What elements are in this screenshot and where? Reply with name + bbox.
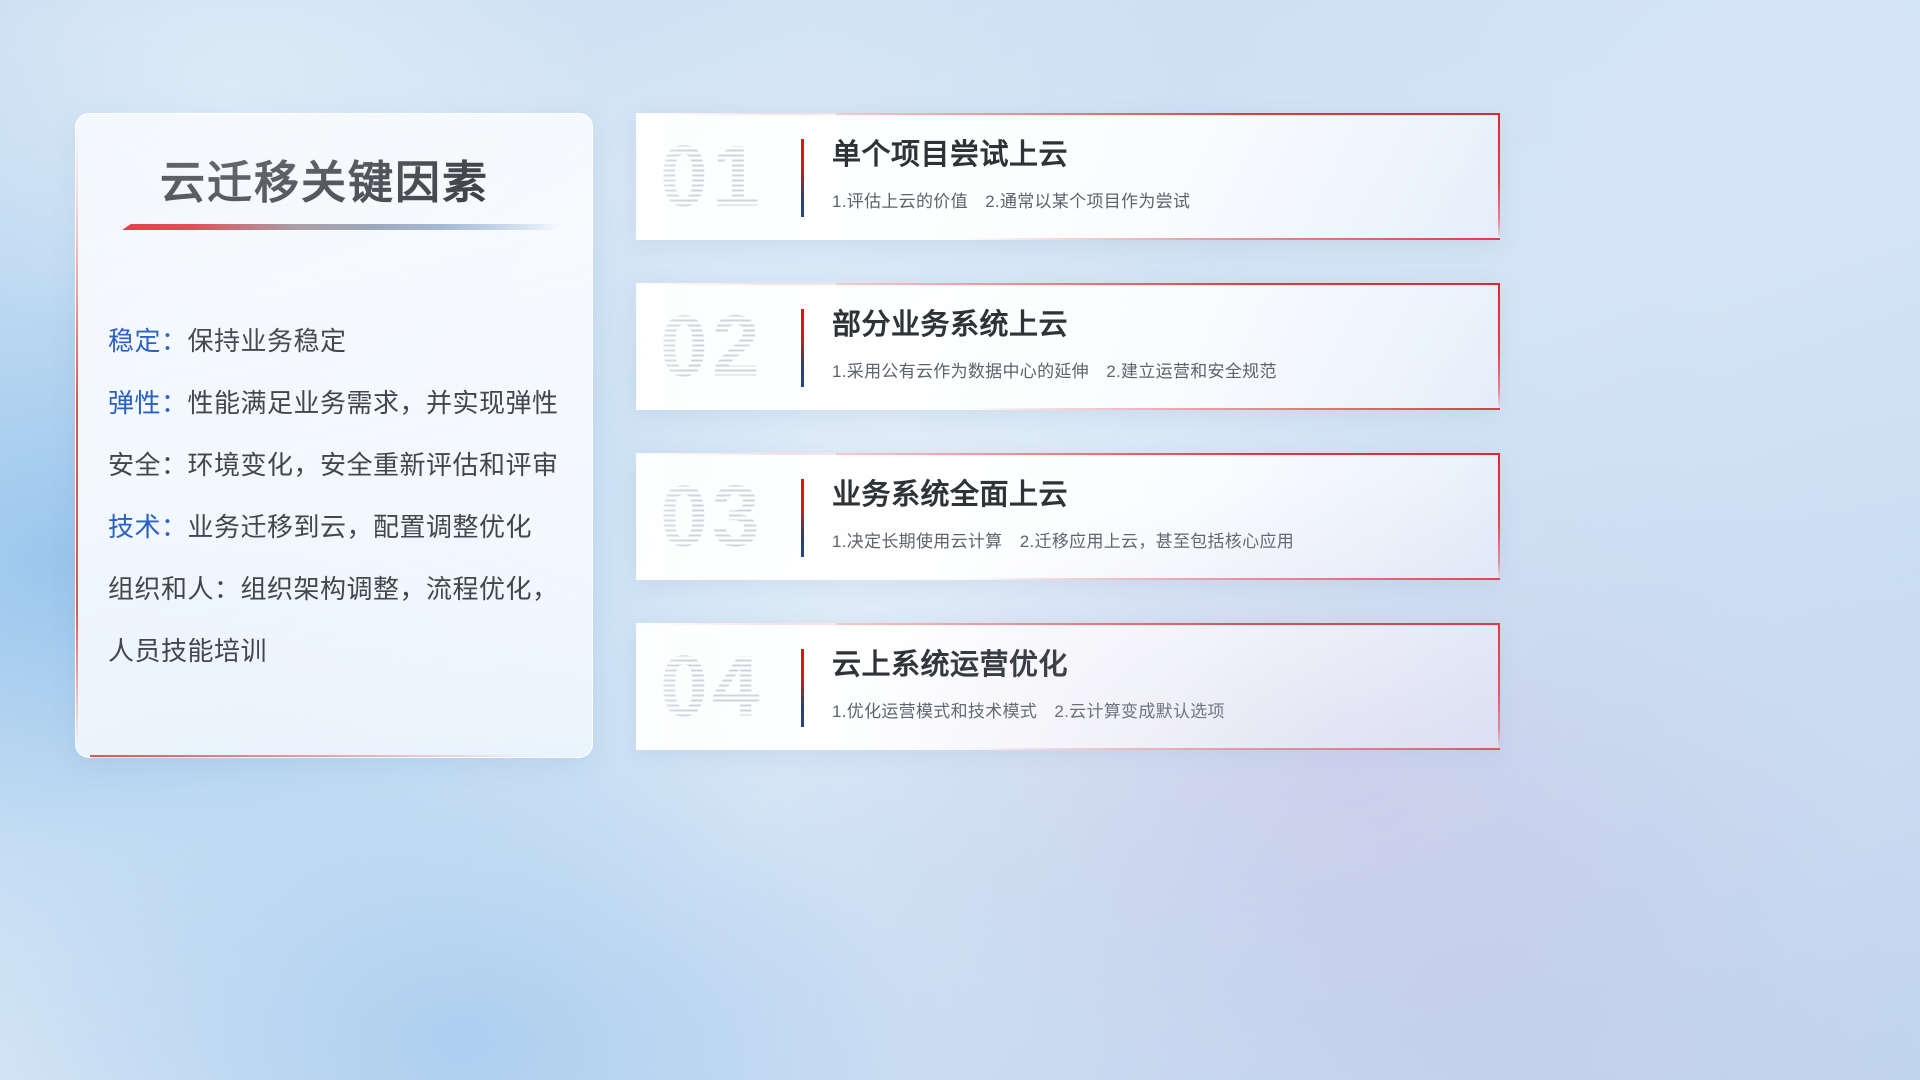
card-accent-bar [801, 649, 804, 727]
card-number: 04 [660, 637, 764, 736]
card-accent-bar [801, 479, 804, 557]
card-description: 1.优化运营模式和技术模式 2.云计算变成默认选项 [832, 697, 1486, 722]
factor-label: 安全： [108, 450, 188, 480]
card-bottom-accent-line [964, 408, 1500, 410]
list-item: 技术：业务迁移到云，配置调整优化 [108, 496, 576, 558]
card-title: 云上系统运营优化 [832, 648, 1486, 683]
factor-text: 性能满足业务需求，并实现弹性 [188, 388, 559, 418]
list-item: 人员技能培训 [108, 620, 576, 682]
list-item: 安全：环境变化，安全重新评估和评审 [108, 434, 576, 496]
card-number-watermark: 02 [636, 283, 836, 410]
card-number-watermark: 04 [636, 623, 836, 750]
factor-text: 人员技能培训 [108, 636, 267, 666]
stage-card[interactable]: 04 云上系统运营优化 1.优化运营模式和技术模式 2.云计算变成默认选项 [636, 623, 1500, 750]
factor-label: 弹性： [108, 388, 188, 418]
card-body: 业务系统全面上云 1.决定长期使用云计算 2.迁移应用上云，甚至包括核心应用 [832, 478, 1486, 552]
card-title: 单个项目尝试上云 [832, 138, 1486, 173]
list-item: 弹性：性能满足业务需求，并实现弹性 [108, 372, 576, 434]
factor-label: 组织和人： [108, 574, 241, 604]
list-item: 稳定：保持业务稳定 [108, 310, 576, 372]
card-right-accent-line [1498, 113, 1500, 240]
panel-left-accent-line [76, 126, 78, 745]
card-body: 云上系统运营优化 1.优化运营模式和技术模式 2.云计算变成默认选项 [832, 648, 1486, 722]
card-right-accent-line [1498, 623, 1500, 750]
card-accent-bar [801, 309, 804, 387]
key-factor-list: 稳定：保持业务稳定 弹性：性能满足业务需求，并实现弹性 安全：环境变化，安全重新… [108, 310, 576, 682]
card-bottom-accent-line [964, 748, 1500, 750]
stage-card[interactable]: 01 单个项目尝试上云 1.评估上云的价值 2.通常以某个项目作为尝试 [636, 113, 1500, 240]
factor-text: 环境变化，安全重新评估和评审 [188, 450, 559, 480]
card-number-watermark: 03 [636, 453, 836, 580]
factor-label: 稳定： [108, 326, 188, 356]
card-description: 1.评估上云的价值 2.通常以某个项目作为尝试 [832, 187, 1486, 212]
stage-card[interactable]: 02 部分业务系统上云 1.采用公有云作为数据中心的延伸 2.建立运营和安全规范 [636, 283, 1500, 410]
card-body: 部分业务系统上云 1.采用公有云作为数据中心的延伸 2.建立运营和安全规范 [832, 308, 1486, 382]
list-item: 组织和人：组织架构调整，流程优化， [108, 558, 576, 620]
factor-text: 组织架构调整，流程优化， [241, 574, 559, 604]
card-body: 单个项目尝试上云 1.评估上云的价值 2.通常以某个项目作为尝试 [832, 138, 1486, 212]
card-description: 1.决定长期使用云计算 2.迁移应用上云，甚至包括核心应用 [832, 527, 1486, 552]
card-number: 02 [660, 297, 764, 396]
card-right-accent-line [1498, 283, 1500, 410]
card-title: 部分业务系统上云 [832, 308, 1486, 343]
page-title: 云迁移关键因素 [160, 146, 489, 211]
card-right-accent-line [1498, 453, 1500, 580]
panel-bottom-accent-line [90, 755, 532, 757]
card-number: 03 [660, 467, 764, 566]
card-description: 1.采用公有云作为数据中心的延伸 2.建立运营和安全规范 [832, 357, 1486, 382]
card-title: 业务系统全面上云 [832, 478, 1486, 513]
slide-canvas: 云迁移关键因素 稳定：保持业务稳定 弹性：性能满足业务需求，并实现弹性 安全：环… [0, 0, 1920, 1080]
factor-text: 保持业务稳定 [188, 326, 347, 356]
card-bottom-accent-line [964, 238, 1500, 240]
card-number-watermark: 01 [636, 113, 836, 240]
card-number: 01 [660, 127, 764, 226]
stage-card-list: 01 单个项目尝试上云 1.评估上云的价值 2.通常以某个项目作为尝试 02 部… [636, 113, 1500, 793]
title-underline-gradient [122, 224, 562, 230]
stage-card[interactable]: 03 业务系统全面上云 1.决定长期使用云计算 2.迁移应用上云，甚至包括核心应… [636, 453, 1500, 580]
factor-text: 业务迁移到云，配置调整优化 [188, 512, 533, 542]
card-accent-bar [801, 139, 804, 217]
card-bottom-accent-line [964, 578, 1500, 580]
key-factors-panel: 云迁移关键因素 稳定：保持业务稳定 弹性：性能满足业务需求，并实现弹性 安全：环… [75, 113, 593, 758]
factor-label: 技术： [108, 512, 188, 542]
